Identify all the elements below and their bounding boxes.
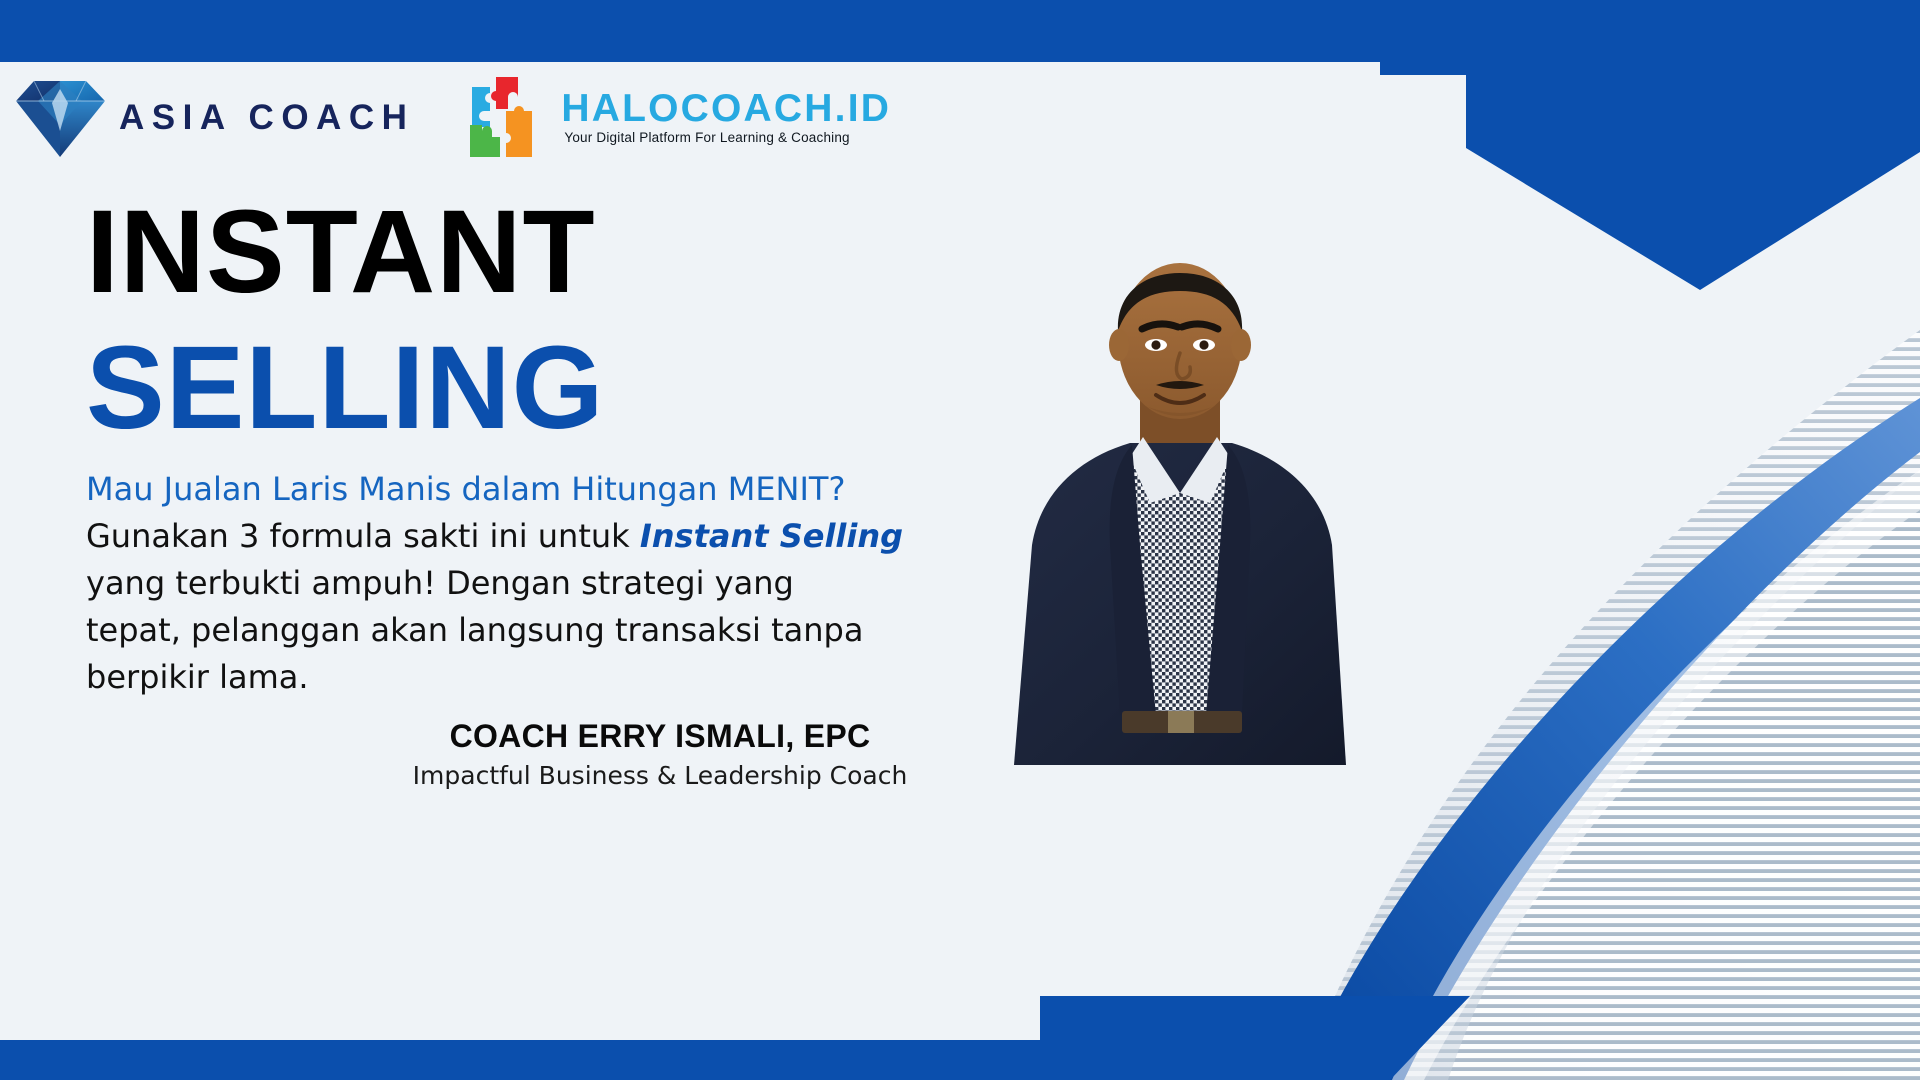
body-hook-line: Mau Jualan Laris Manis dalam Hitungan ME… xyxy=(86,466,966,513)
headline-block: INSTANT SELLING xyxy=(86,196,604,444)
body-line-2-emphasis: Instant Selling xyxy=(640,517,903,555)
asia-coach-logo: ASIA COACH xyxy=(8,73,414,161)
headline-line-2: SELLING xyxy=(86,332,604,444)
bottom-left-bar xyxy=(0,1040,1190,1080)
logo-row: ASIA COACH HALOCOACH.ID Your Digital Pla… xyxy=(0,62,900,172)
body-line-4: tepat, pelanggan akan langsung transaksi… xyxy=(86,607,966,654)
asia-coach-wordmark: ASIA COACH xyxy=(119,100,414,135)
credits-block: COACH ERRY ISMALI, EPC Impactful Busines… xyxy=(330,718,990,790)
body-line-5: berpikir lama. xyxy=(86,654,966,701)
body-line-2-text: Gunakan 3 formula sakti ini untuk xyxy=(86,517,640,555)
body-line-2: Gunakan 3 formula sakti ini untuk Instan… xyxy=(86,513,966,560)
diamond-icon xyxy=(8,73,113,161)
slide-canvas: ASIA COACH HALOCOACH.ID Your Digital Pla… xyxy=(0,0,1920,1080)
coach-role: Impactful Business & Leadership Coach xyxy=(330,761,990,790)
coach-name: COACH ERRY ISMALI, EPC xyxy=(330,718,990,755)
puzzle-pieces-icon xyxy=(466,73,554,161)
headline-line-1: INSTANT xyxy=(86,196,604,308)
halocoach-logo: HALOCOACH.ID Your Digital Platform For L… xyxy=(466,73,891,161)
halocoach-tagline: Your Digital Platform For Learning & Coa… xyxy=(564,131,891,145)
body-line-3: yang terbukti ampuh! Dengan strategi yan… xyxy=(86,560,966,607)
halocoach-wordmark: HALOCOACH.ID xyxy=(561,89,891,128)
body-copy: Mau Jualan Laris Manis dalam Hitungan ME… xyxy=(86,466,966,701)
coach-portrait xyxy=(980,245,1380,810)
